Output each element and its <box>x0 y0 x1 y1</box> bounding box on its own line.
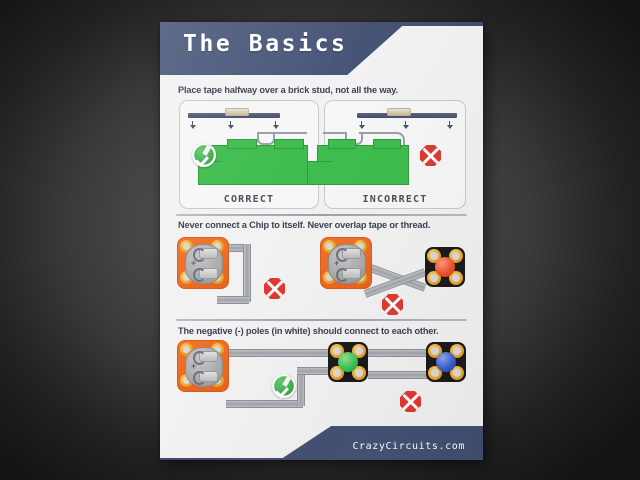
panel-incorrect: INCORRECT <box>324 100 466 209</box>
green-led-chip-icon <box>328 342 368 382</box>
battery-plus-label: + <box>191 258 196 268</box>
arrow-down-icon <box>190 125 196 129</box>
chip-pad-hole <box>452 274 460 282</box>
chip-pad-hole <box>333 369 341 377</box>
brick-stud <box>274 139 304 149</box>
chip-pad-hole <box>452 252 460 260</box>
battery-plus-label: + <box>334 258 339 268</box>
x-badge-icon <box>382 294 403 315</box>
battery-clip <box>199 371 218 382</box>
battery-chip-icon: + <box>177 237 229 289</box>
battery-clip <box>199 268 218 279</box>
x-badge-icon <box>400 391 421 412</box>
battery-chip-icon: + <box>177 340 229 392</box>
brick-base-left <box>307 161 332 185</box>
battery-clip <box>199 351 218 362</box>
arrow-down-icon <box>447 125 453 129</box>
battery-clip <box>342 268 361 279</box>
tape-roll-icon <box>387 108 411 116</box>
blue-led-chip-icon <box>426 342 466 382</box>
lego-brick-icon <box>210 145 308 185</box>
tape-drape-right <box>271 132 307 134</box>
check-badge-icon <box>272 374 296 398</box>
battery-plus-label: + <box>191 361 196 371</box>
check-badge-icon <box>192 143 216 167</box>
tape-connection-elbow <box>297 367 331 375</box>
chip-pad-hole <box>431 347 439 355</box>
led-dome <box>338 352 358 372</box>
x-badge-icon <box>264 278 285 299</box>
panel-correct-label: CORRECT <box>180 194 318 205</box>
chip-pad-hole <box>355 347 363 355</box>
chip-pad-hole <box>333 347 341 355</box>
panel-correct: CORRECT <box>179 100 319 209</box>
arrow-down-icon <box>403 125 409 129</box>
chip-pad-hole <box>430 274 438 282</box>
footer-website-label: CrazyCircuits.com <box>352 441 465 452</box>
instruction-card: The Basics Place tape halfway over a bri… <box>160 22 483 460</box>
x-badge-icon <box>420 145 441 166</box>
battery-clip <box>199 248 218 259</box>
tape-connection-bottom-2 <box>368 371 430 379</box>
section-divider-1 <box>176 214 467 216</box>
tape-connection-top <box>226 349 331 357</box>
section-1-caption: Place tape halfway over a brick stud, no… <box>178 85 398 95</box>
chip-pad-hole <box>453 347 461 355</box>
section-divider-2 <box>176 319 467 321</box>
arrow-down-icon <box>228 125 234 129</box>
battery-clip <box>342 248 361 259</box>
tape-connection-top-2 <box>368 349 430 357</box>
arrow-down-icon <box>273 125 279 129</box>
brick-stud <box>227 139 257 149</box>
section-3-caption: The negative (-) poles (in white) should… <box>178 326 439 336</box>
chip-pad-hole <box>431 369 439 377</box>
red-led-chip-icon <box>425 247 465 287</box>
section-2-caption: Never connect a Chip to itself. Never ov… <box>178 220 430 230</box>
panel-incorrect-label: INCORRECT <box>325 194 465 205</box>
chip-pad-hole <box>355 369 363 377</box>
tape-drape-left <box>323 132 345 134</box>
tape-connection-loop-right <box>243 244 251 302</box>
battery-chip-icon: + <box>320 237 372 289</box>
brick-stud <box>328 139 356 149</box>
tape-roll-icon <box>225 108 249 116</box>
chip-pad-hole <box>453 369 461 377</box>
led-dome <box>436 352 456 372</box>
led-dome <box>435 257 455 277</box>
page-title: The Basics <box>183 31 347 57</box>
chip-pad-hole <box>430 252 438 260</box>
brick-stud <box>373 139 401 149</box>
tape-connection-loop-bottom <box>217 296 249 304</box>
arrow-down-icon <box>359 125 365 129</box>
tape-connection-bottom <box>226 400 303 408</box>
